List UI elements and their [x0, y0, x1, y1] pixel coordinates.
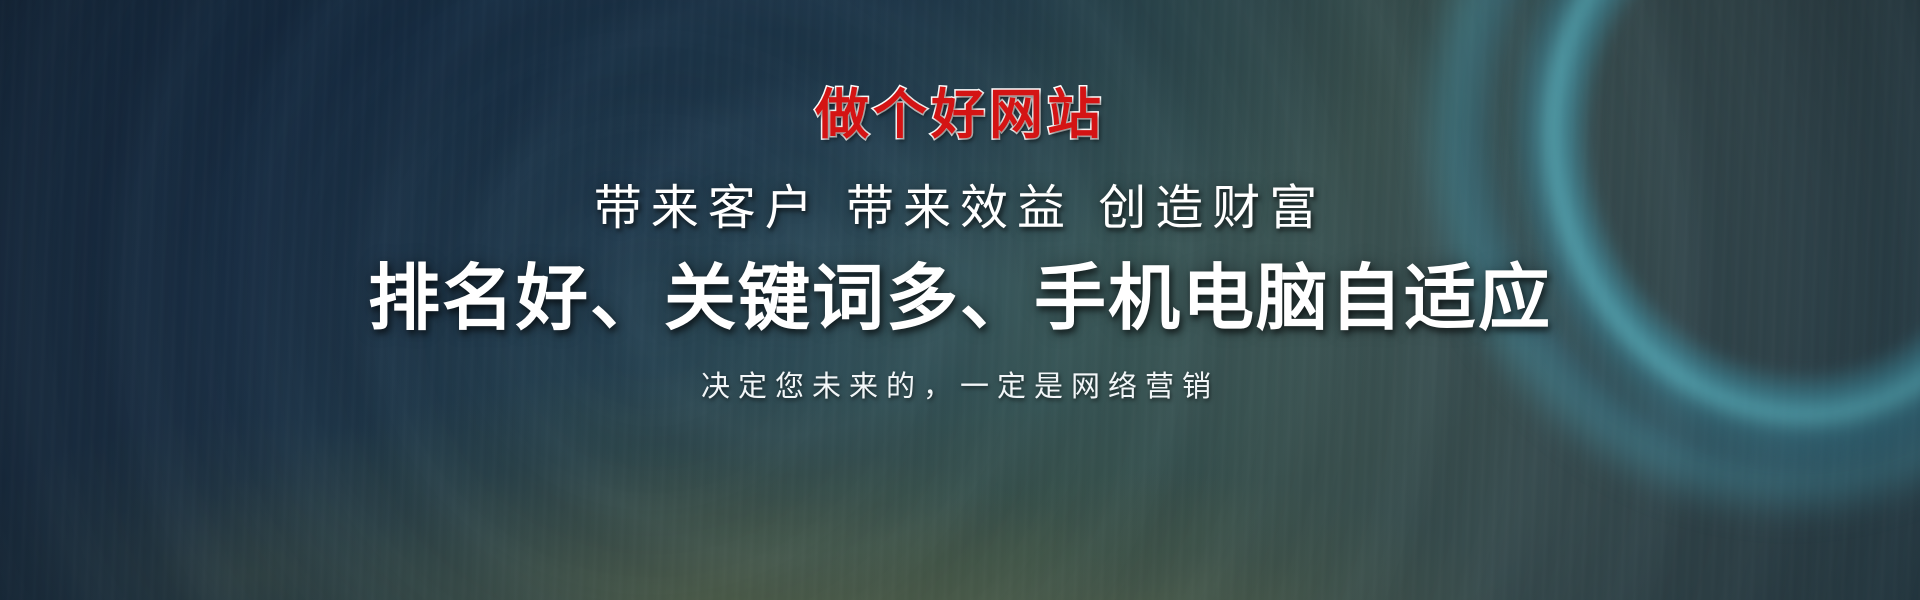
banner-subtitle: 带来客户 带来效益 创造财富 — [594, 184, 1327, 232]
banner-text-block: 做个好网站 带来客户 带来效益 创造财富 排名好、关键词多、手机电脑自适应 决定… — [0, 0, 1920, 600]
banner-headline: 排名好、关键词多、手机电脑自适应 — [368, 262, 1552, 334]
banner-tagline: 决定您未来的，一定是网络营销 — [701, 372, 1219, 401]
banner-title: 做个好网站 — [815, 88, 1105, 142]
promo-banner: 做个好网站 带来客户 带来效益 创造财富 排名好、关键词多、手机电脑自适应 决定… — [0, 0, 1920, 600]
